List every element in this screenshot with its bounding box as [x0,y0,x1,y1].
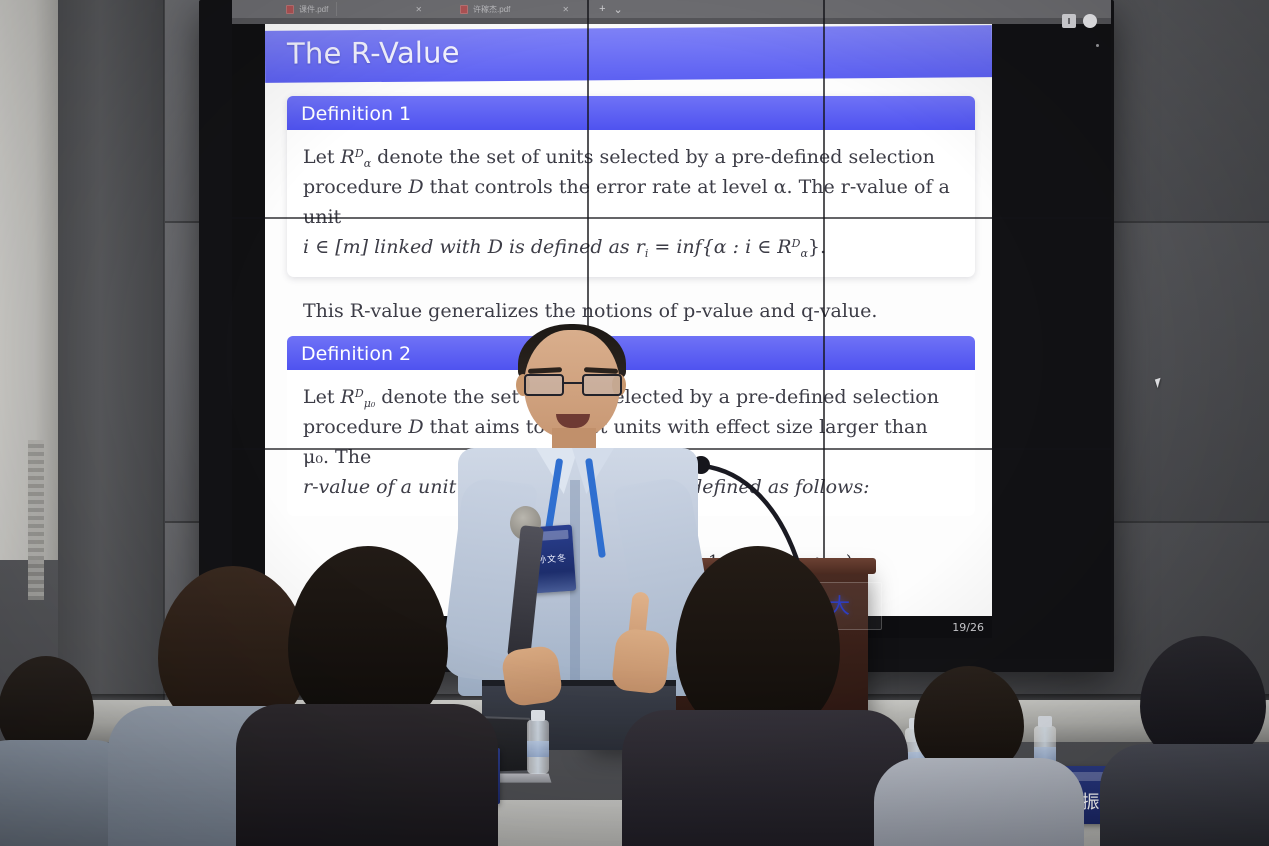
def1-l2-pre: procedure [303,176,408,198]
pause-icon[interactable]: ‖ [1062,14,1076,28]
definition-1-body: Let RDα denote the set of units selected… [287,130,975,277]
middle-paragraph: This R-value generalizes the notions of … [303,300,877,322]
videowall-seam-horizontal-1 [232,217,1111,219]
def1-l3-symbol: D [488,236,503,258]
speaker-glasses [524,374,622,396]
browser-tab-title: 课件.pdf [299,4,328,15]
def1-l1-symbol: R [341,146,355,168]
definition-1-line-1: Let RDα denote the set of units selected… [303,142,959,172]
def1-l3-post: is defined as r [503,236,645,258]
browser-tab-title: 许稼杰.pdf [473,4,510,15]
audience-member [240,546,490,846]
chevron-down-icon[interactable]: ⌄ [610,3,627,16]
def1-l2-symbol: D [408,176,423,198]
slide-title: The R-Value [287,35,460,70]
slide-page-indicator: 19/26 [952,621,984,634]
audience-shoulders [236,704,498,846]
display-status-led [1096,44,1099,47]
def1-l3-eq: = inf{α : i ∈ R [648,236,791,258]
definition-1-line-3: i ∈ [m] linked with D is defined as ri =… [303,232,959,262]
audience-member [880,666,1080,846]
speaker-hand-holding-mic [500,644,563,707]
audience-shoulders [1100,744,1269,846]
audience-member [1110,636,1269,846]
def1-l1-post: denote the set of units selected by a pr… [371,146,935,168]
browser-tab[interactable]: 课件.pdf [278,0,336,18]
definition-1-line-2: procedure D that controls the error rate… [303,172,959,232]
def1-l3-tail-sub: α [800,247,807,260]
def1-l1-sup: D [355,147,364,160]
pdf-icon [286,5,294,14]
new-tab-button[interactable]: + [595,3,609,15]
def2-l1-symbol: R [341,386,355,408]
def1-l1-pre: Let [303,146,341,168]
tab-close-icon[interactable]: ✕ [415,5,422,14]
wall-vent-grille [28,440,44,600]
audience-shoulders [874,758,1084,846]
def2-l1-sub: μ₀ [364,397,376,410]
browser-tab[interactable]: 许稼杰.pdf [452,0,518,18]
glasses-lens-right [582,374,622,396]
water-bottle-icon [527,720,549,774]
tab-divider [336,2,337,16]
audience-member [640,546,890,846]
bottle-label [527,741,549,757]
audience-shoulders [622,710,908,846]
definition-1-header-label: Definition 1 [301,103,411,125]
def2-l2-symbol: D [408,416,423,438]
def1-l3-pre: i ∈ [m] linked with [303,236,488,258]
tab-close-icon[interactable]: ✕ [562,5,569,14]
glasses-lens-left [524,374,564,396]
screen-letterbox-right [992,24,1111,659]
glasses-bridge [564,382,582,384]
pdf-icon [460,5,468,14]
bottle-cap [531,710,545,721]
def1-l1-sub: α [364,157,371,170]
def2-l1-sup: D [355,387,364,400]
def2-l2-pre: procedure [303,416,408,438]
browser-tab-bar[interactable]: 课件.pdf ✕ 许稼杰.pdf ✕ + ⌄ [232,0,1111,18]
definition-1-header: Definition 1 [287,96,975,130]
definition-1-box: Definition 1 Let RDα denote the set of u… [287,96,975,277]
def2-l1-pre: Let [303,386,341,408]
hand-cursor-icon[interactable] [1083,14,1097,28]
definition-2-header-label: Definition 2 [301,343,411,365]
display-overlay-controls[interactable]: ‖ [1062,14,1097,28]
